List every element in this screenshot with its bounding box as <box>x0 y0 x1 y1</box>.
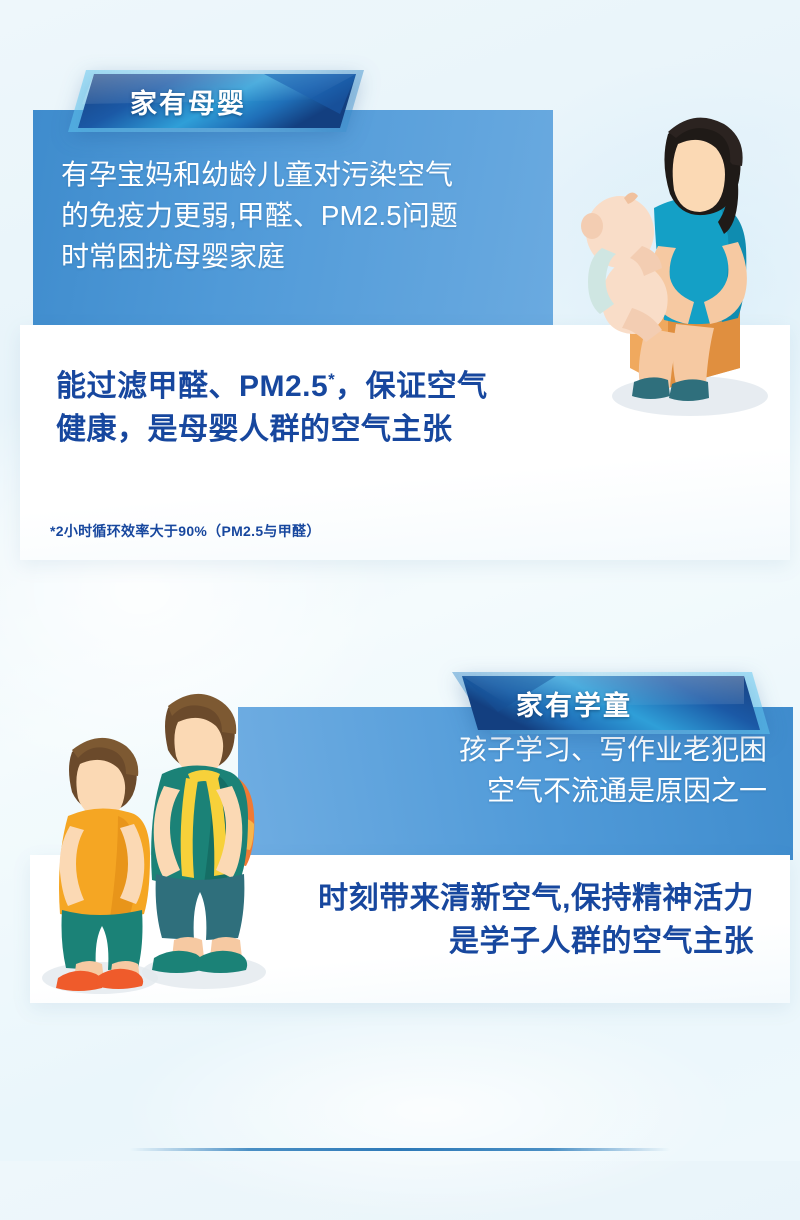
section-1-body-line-2: 的免疫力更弱,甲醛、PM2.5问题 <box>61 195 553 236</box>
section-1-blue-panel: 有孕宝妈和幼龄儿童对污染空气 的免疫力更弱,甲醛、PM2.5问题 时常困扰母婴家… <box>33 110 553 325</box>
section-2-body-line-2: 空气不流通是原因之一 <box>238 770 767 811</box>
section-1-badge-label: 家有母婴 <box>130 82 246 121</box>
students-illustration <box>22 686 284 1012</box>
section-1-title-badge: 家有母婴 <box>68 70 364 132</box>
section-1-headline-part-2: ，保证空气 <box>335 370 488 403</box>
section-2-title-badge: 家有学童 <box>452 672 770 734</box>
section-1-body-text: 有孕宝妈和幼龄儿童对污染空气 的免疫力更弱,甲醛、PM2.5问题 时常困扰母婴家… <box>33 110 553 277</box>
section-1-body-line-1: 有孕宝妈和幼龄儿童对污染空气 <box>61 154 553 195</box>
section-2-body-line-1: 孩子学习、写作业老犯困 <box>238 729 767 770</box>
section-1-body-line-3: 时常困扰母婴家庭 <box>61 236 553 277</box>
section-2-badge-label: 家有学童 <box>516 684 632 723</box>
section-1-headline-part-1: 能过滤甲醛、PM2.5 <box>56 370 328 403</box>
bottom-divider <box>130 1148 670 1151</box>
section-1-footnote: *2小时循环效率大于90%（PM2.5与甲醛） <box>50 521 321 541</box>
background-glow-bottom <box>120 1000 740 1220</box>
mother-baby-illustration <box>572 96 800 426</box>
